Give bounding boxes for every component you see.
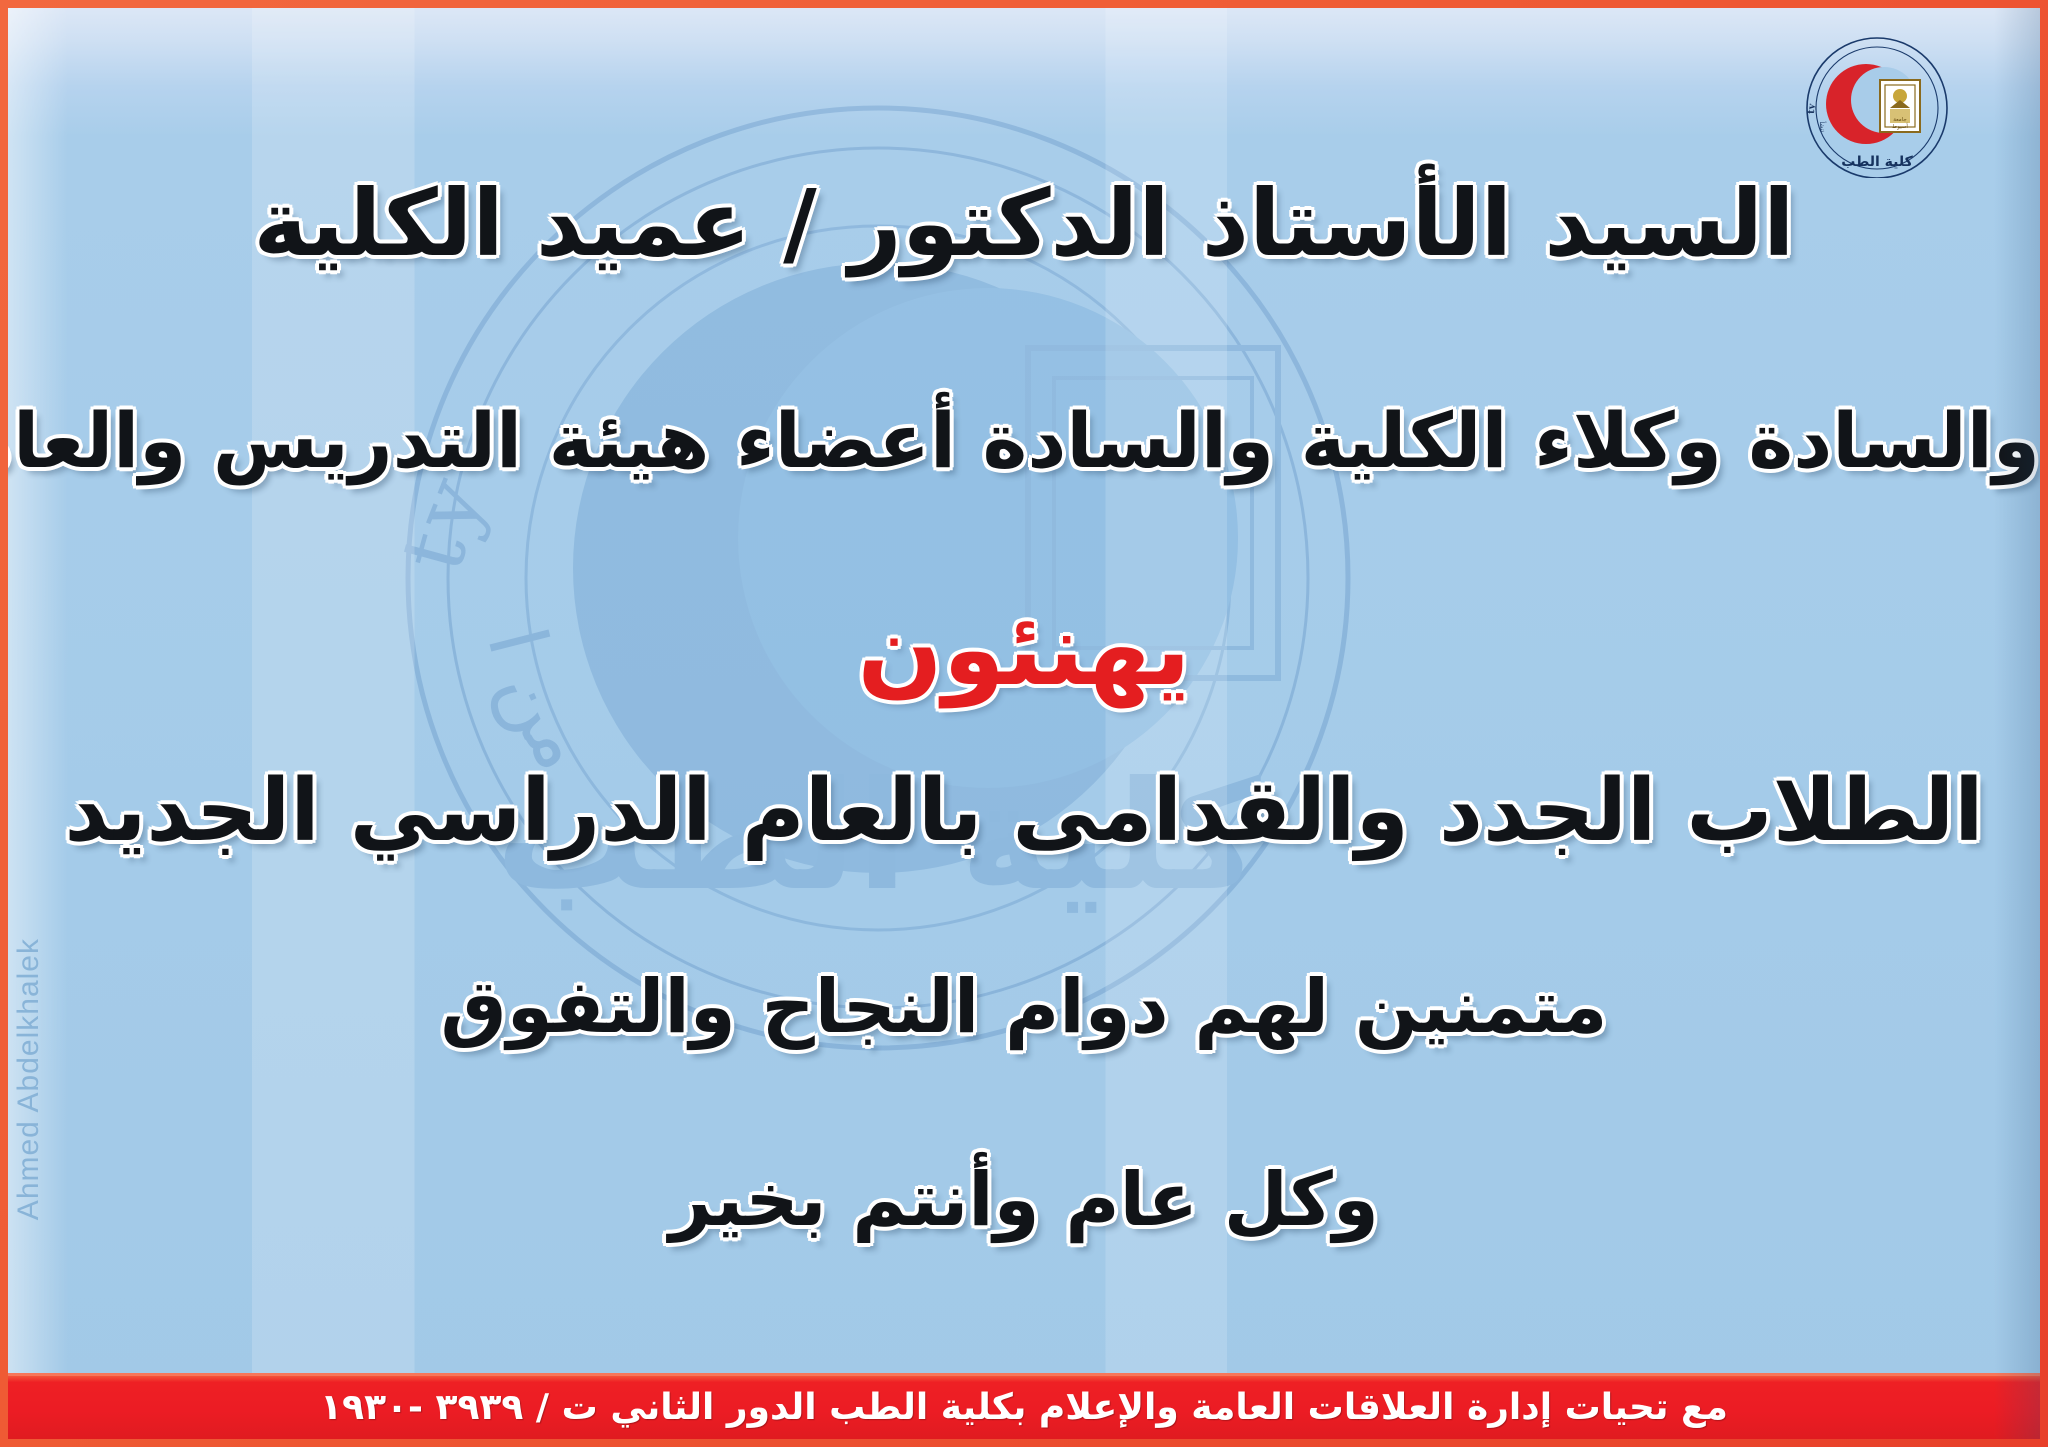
banner-line-wishes: متمنين لهم دوام النجاح والتفوق [8,970,2040,1044]
svg-text:أسيوط: أسيوط [1892,122,1908,130]
banner-line-greeting: وكل عام وأنتم بخير [8,1163,2040,1237]
banner-line-students: الطلاب الجدد والقدامى بالعام الدراسي الج… [8,768,2040,854]
banner-canvas: Faculty of Medicine - Assiut University … [8,8,2040,1439]
banner-line-congratulate: يهنئون [8,600,2040,700]
svg-text:تنشأ على الاعتماد من الهيئة ال: تنشأ على الاعتماد من الهيئة القومية لضما… [1802,30,1827,133]
svg-text:Faculty of Medicine - Assiut U: Faculty of Medicine - Assiut University [1802,30,1818,114]
greeting-banner: Faculty of Medicine - Assiut University … [0,0,2048,1447]
footer-contact-text: مع تحيات إدارة العلاقات العامة والإعلام … [320,1387,1728,1428]
svg-text:جامعة: جامعة [1893,117,1907,123]
banner-footer-bar: مع تحيات إدارة العلاقات العامة والإعلام … [8,1373,2040,1439]
banner-line-dean: السيد الأستاذ الدكتور / عميد الكلية [8,178,2040,270]
faculty-of-medicine-assiut-university-logo: جامعة أسيوط Faculty of Medicine - Assiut… [1802,30,1952,178]
svg-text:Faculty of Medicine - Assiut U: Faculty of Medicine - Assiut University [338,8,506,582]
banner-line-staff: والسادة وكلاء الكلية والسادة أعضاء هيئة … [8,403,2040,479]
svg-text:كلية الطب: كلية الطب [1841,154,1913,170]
